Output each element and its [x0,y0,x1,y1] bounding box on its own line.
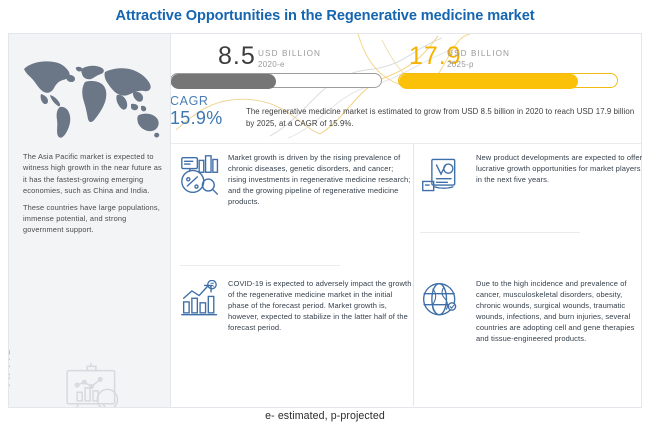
region-panel: The Asia Pacific market is expected to w… [9,34,170,407]
divider-cell-a-bottom [180,265,340,266]
insight-text-3: COVID-19 is expected to adversely impact… [228,278,415,333]
infographic-page: Attractive Opportunities in the Regenera… [0,0,650,434]
market-size-summary: 8.5 USD BILLION 2020-e 17.9 USD BILLION … [170,34,642,141]
region-paragraph-2: These countries have large populations, … [23,202,163,236]
insight-text-4: Due to the high incidence and prevalence… [476,278,646,345]
base-year-label: 2020-e [258,60,285,69]
region-label-apac: APAC [9,326,13,386]
globe-icon [420,280,462,322]
new-product-launch-icon [420,154,462,196]
forecast-year-bar-fill [399,74,578,89]
divider-left-vertical [170,34,171,407]
world-map-icon [19,52,163,144]
market-analytics-percent-icon [180,154,222,196]
forecast-year-unit: USD BILLION [447,49,510,58]
forecast-year-label: 2025-p [447,60,474,69]
insight-text-1: Market growth is driven by the rising pr… [228,152,413,207]
region-description: The Asia Pacific market is expected to w… [23,151,163,241]
base-year-unit: USD BILLION [258,49,321,58]
bar-chart-growth-icon [180,280,222,322]
insight-text-2: New product developments are expected to… [476,152,646,185]
cagr-label: CAGR [170,94,209,108]
base-year-bar-fill [171,74,276,89]
divider-center-vertical [413,144,414,406]
cagr-value: 15.9% [170,108,223,129]
forecast-year-bar [398,73,618,88]
presentation-chart-magnifier-icon [57,362,129,407]
divider-cell-b-bottom [420,232,580,233]
footer-note: e- estimated, p-projected [0,410,650,422]
divider-stats-bottom [171,143,641,144]
market-summary-text: The regenerative medicine market is esti… [246,106,638,129]
region-paragraph-1: The Asia Pacific market is expected to w… [23,151,163,197]
base-year-bar [170,73,382,88]
page-title: Attractive Opportunities in the Regenera… [0,8,650,24]
base-year-value: 8.5 [218,42,256,71]
